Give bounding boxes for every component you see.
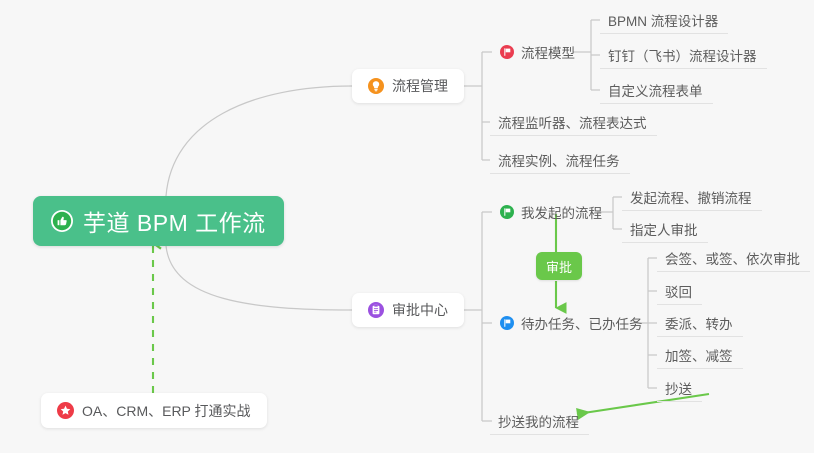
- leaf-start-cancel-process[interactable]: 发起流程、撤销流程: [622, 184, 762, 211]
- branch-label: 审批中心: [392, 300, 448, 320]
- leaf-custom-process-form[interactable]: 自定义流程表单: [600, 77, 713, 104]
- node-label: 流程模型: [521, 42, 575, 62]
- annotation-label: 审批: [546, 257, 572, 276]
- leaf-add-remove-sign[interactable]: 加签、减签: [657, 342, 743, 369]
- leaf-label: 会签、或签、依次审批: [665, 248, 800, 268]
- node-todo-done-tasks[interactable]: 待办任务、已办任务: [492, 310, 653, 337]
- leaf-label: 加签、减签: [665, 345, 733, 365]
- flag-icon: [500, 205, 514, 219]
- leaf-process-instance-task[interactable]: 流程实例、流程任务: [490, 147, 630, 174]
- leaf-label: 自定义流程表单: [608, 80, 703, 100]
- clipboard-icon: [368, 302, 384, 318]
- root-node[interactable]: 芋道 BPM 工作流: [33, 196, 284, 246]
- annotation-label: OA、CRM、ERP 打通实战: [82, 401, 251, 421]
- lightbulb-icon: [368, 78, 384, 94]
- leaf-dingtalk-feishu-designer[interactable]: 钉钉（飞书）流程设计器: [600, 42, 767, 69]
- leaf-label: 流程实例、流程任务: [498, 150, 620, 170]
- leaf-label: 抄送: [665, 378, 692, 398]
- flag-icon: [500, 316, 514, 330]
- node-my-initiated-process[interactable]: 我发起的流程: [492, 199, 612, 226]
- mindmap-canvas: 芋道 BPM 工作流 流程管理 流程模型 BPMN 流程设计器 钉钉（飞书: [0, 0, 814, 453]
- leaf-label: 委派、转办: [665, 313, 733, 333]
- leaf-cc[interactable]: 抄送: [657, 375, 702, 402]
- leaf-label: 抄送我的流程: [498, 411, 579, 431]
- branch-approval-center[interactable]: 审批中心: [352, 293, 464, 327]
- leaf-label: 驳回: [665, 281, 692, 301]
- edge-root-to-process-management: [166, 86, 352, 196]
- flag-icon: [500, 45, 514, 59]
- leaf-countersign-orsign-sequential[interactable]: 会签、或签、依次审批: [657, 245, 810, 272]
- leaf-label: 钉钉（飞书）流程设计器: [608, 45, 757, 65]
- leaf-assignee-approval[interactable]: 指定人审批: [622, 216, 708, 243]
- edge-root-to-approval-center: [166, 246, 352, 310]
- thumbs-up-icon: [51, 210, 73, 232]
- leaf-reject[interactable]: 驳回: [657, 278, 702, 305]
- node-label: 待办任务、已办任务: [521, 313, 643, 333]
- branch-label: 流程管理: [392, 76, 448, 96]
- leaf-delegate-transfer[interactable]: 委派、转办: [657, 310, 743, 337]
- branch-process-management[interactable]: 流程管理: [352, 69, 464, 103]
- node-process-model[interactable]: 流程模型: [492, 39, 585, 66]
- leaf-process-listener-expression[interactable]: 流程监听器、流程表达式: [490, 109, 657, 136]
- leaf-bpmn-designer[interactable]: BPMN 流程设计器: [600, 7, 728, 34]
- leaf-label: 发起流程、撤销流程: [630, 187, 752, 207]
- root-label: 芋道 BPM 工作流: [83, 204, 266, 238]
- annotation-approval-tag[interactable]: 审批: [536, 252, 582, 280]
- leaf-label: 指定人审批: [630, 219, 698, 239]
- node-label: 我发起的流程: [521, 202, 602, 222]
- leaf-cc-to-me-process[interactable]: 抄送我的流程: [490, 408, 589, 435]
- star-icon: [57, 402, 74, 419]
- leaf-label: 流程监听器、流程表达式: [498, 112, 647, 132]
- leaf-label: BPMN 流程设计器: [608, 10, 718, 30]
- annotation-integration-note[interactable]: OA、CRM、ERP 打通实战: [41, 393, 267, 428]
